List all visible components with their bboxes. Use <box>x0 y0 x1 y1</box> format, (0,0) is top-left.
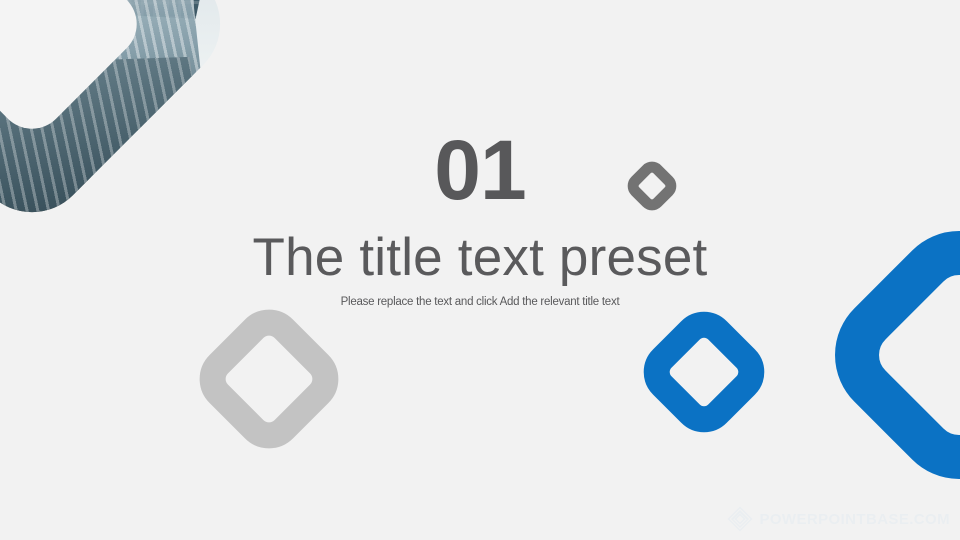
slide-title: The title text preset <box>0 228 960 287</box>
watermark-text: POWERPOINTBASE.COM <box>759 511 950 528</box>
slide-text-block: 01 The title text preset Please replace … <box>0 128 960 308</box>
grey-diamond-ring <box>186 296 353 463</box>
presentation-slide: 01 The title text preset Please replace … <box>0 0 960 540</box>
blue-diamond-ring <box>630 298 777 445</box>
slide-number: 01 <box>0 128 960 212</box>
powerpointbase-logo-icon <box>727 506 753 532</box>
watermark: POWERPOINTBASE.COM <box>727 506 950 532</box>
slide-subtitle: Please replace the text and click Add th… <box>0 296 960 308</box>
